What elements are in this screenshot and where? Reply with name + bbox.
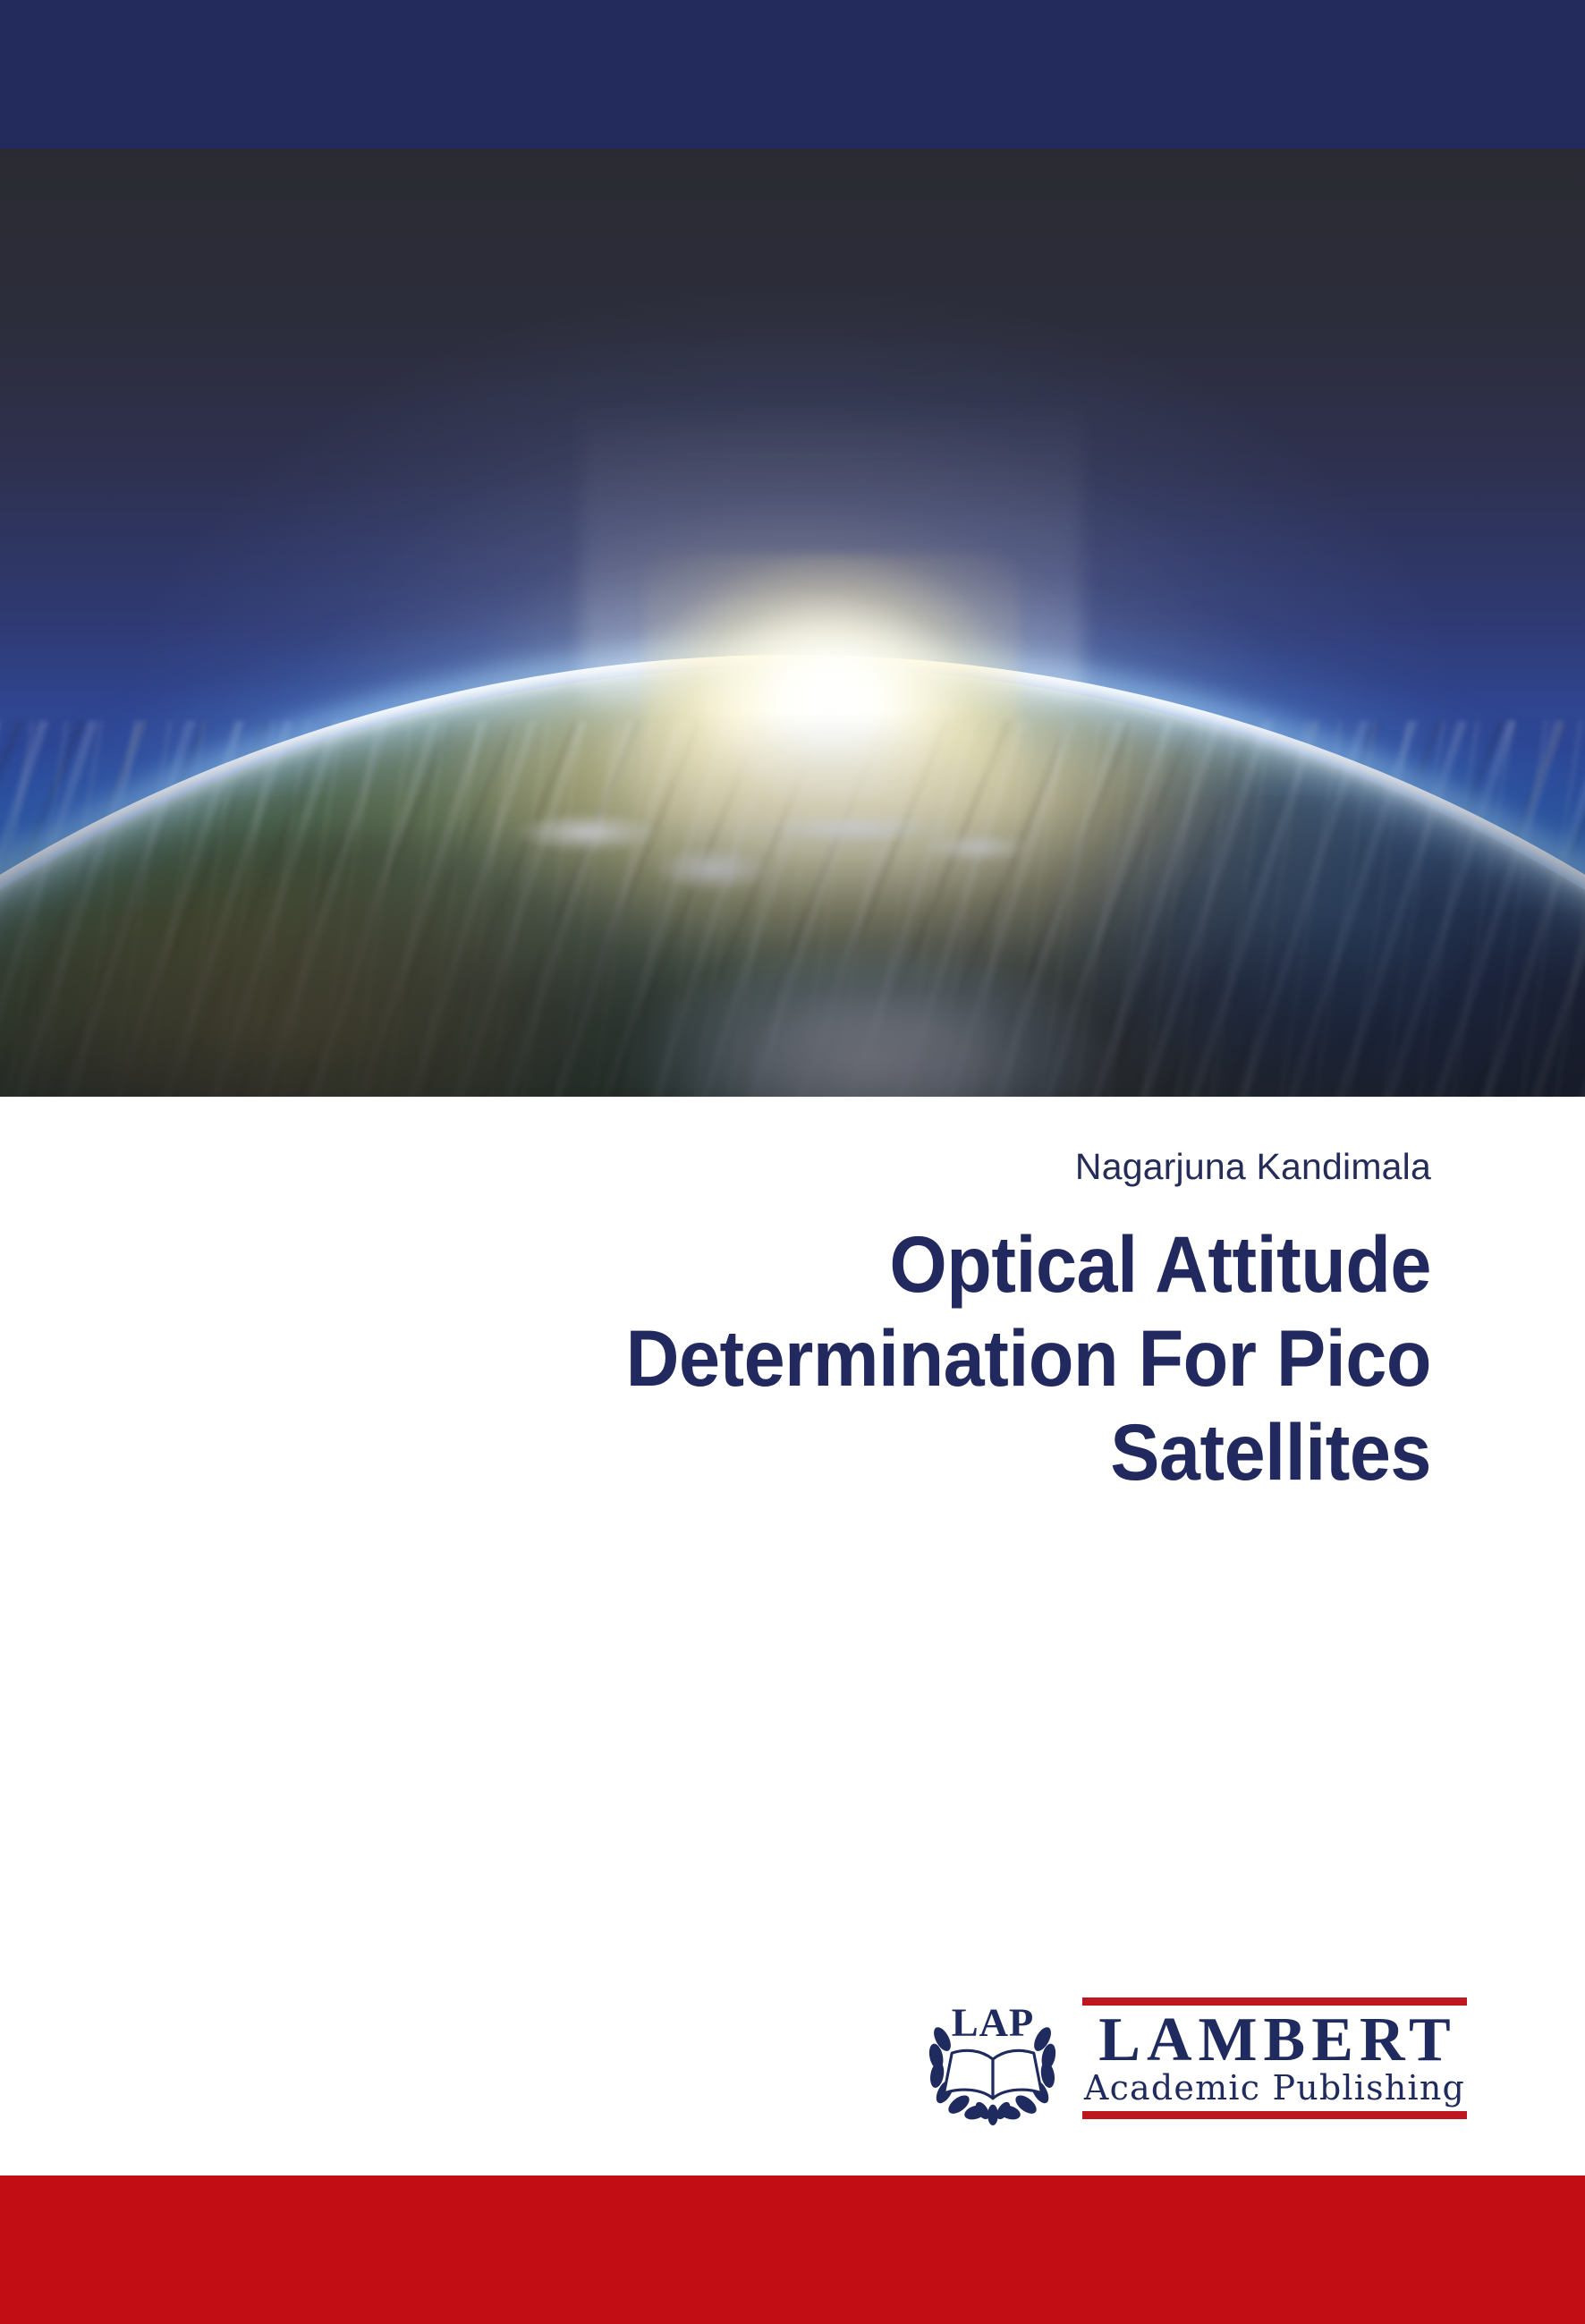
title-line-3: Satellites [317,1405,1431,1499]
lap-emblem-icon: LAP [923,1990,1063,2126]
publisher-name: LAMBERT [1082,2010,1467,2070]
title-line-1: Optical Attitude [317,1217,1431,1311]
book-cover: Nagarjuna Kandimala Optical Attitude Det… [0,0,1585,2324]
svg-text:LAP: LAP [952,2000,1035,2045]
cover-artwork [0,148,1585,1097]
logo-rule-top [1082,1997,1467,2006]
author-name: Nagarjuna Kandimala [1075,1146,1431,1188]
bottom-red-band [0,2176,1585,2324]
publisher-wordmark: LAMBERT Academic Publishing [1082,1997,1467,2120]
book-title: Optical Attitude Determination For Pico … [317,1217,1431,1499]
title-line-2: Determination For Pico [317,1311,1431,1405]
publisher-logo: LAP LAMBERT Academic Publishing [923,1990,1467,2126]
publisher-tagline: Academic Publishing [1082,2070,1467,2108]
top-navy-band [0,0,1585,148]
cover-text-area: Nagarjuna Kandimala Optical Attitude Det… [0,1097,1585,2176]
logo-rule-bottom [1082,2111,1467,2119]
